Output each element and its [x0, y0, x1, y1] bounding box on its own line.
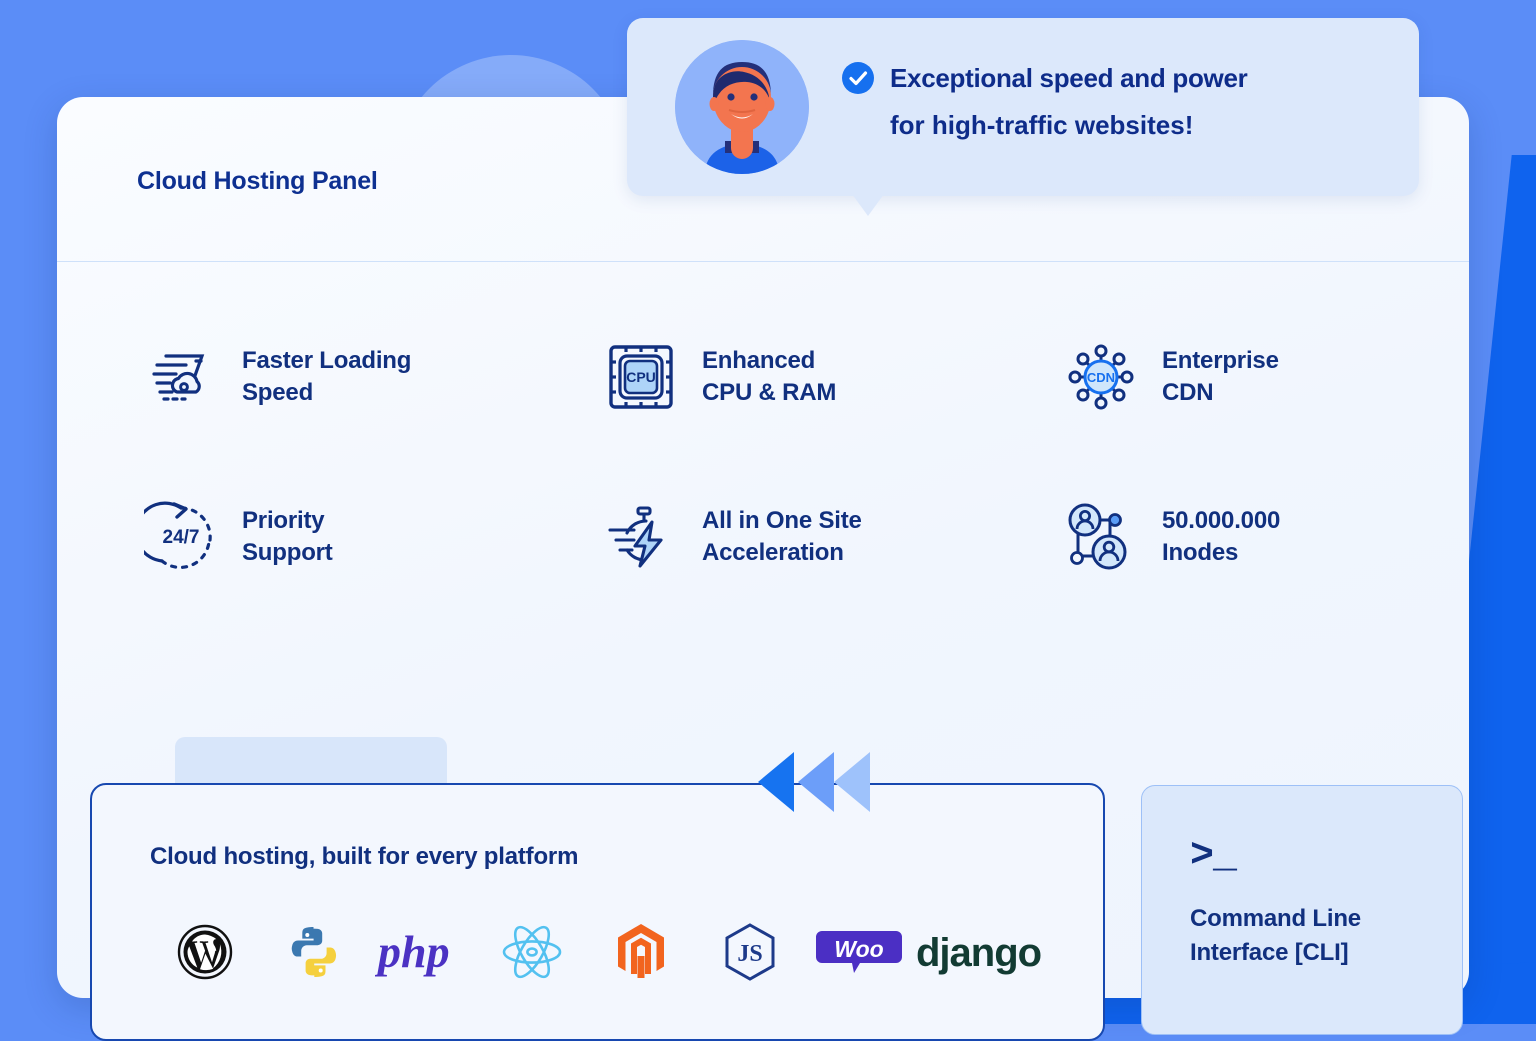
platform-card: Cloud hosting, built for every platform [90, 783, 1105, 1041]
php-logo-text: php [375, 926, 450, 977]
cli-card-label: Command Line Interface [CLI] [1190, 902, 1361, 969]
cdn-network-icon: CDN [1062, 340, 1140, 414]
woocommerce-logo[interactable]: Woo [805, 909, 914, 995]
woocommerce-logo-text: Woo [835, 936, 884, 962]
feature-label: Enhanced CPU & RAM [702, 345, 836, 410]
cloud-hosting-panel: Cloud Hosting Panel [57, 97, 1469, 998]
check-circle-icon [842, 62, 874, 105]
cpu-chip-text: CPU [626, 369, 656, 385]
feature-label: All in One Site Acceleration [702, 505, 862, 570]
speed-tooltip: Exceptional speed and power for high-tra… [627, 18, 1419, 196]
nodejs-logo[interactable]: JS [696, 909, 805, 995]
feature-inodes: 50.000.000 Inodes [1062, 457, 1442, 617]
django-logo[interactable]: django [914, 909, 1070, 995]
feature-label: Faster Loading Speed [242, 345, 411, 410]
platform-logo-row: php [150, 907, 1070, 997]
24-7-clock-icon: 24/7 [142, 500, 220, 574]
feature-site-acceleration: All in One Site Acceleration [602, 457, 1062, 617]
users-network-icon [1062, 500, 1140, 574]
tooltip-body: Exceptional speed and power for high-tra… [842, 58, 1389, 146]
php-logo[interactable]: php [368, 909, 477, 995]
tooltip-text-line-2: for high-traffic websites! [890, 105, 1193, 145]
chevron-left-2 [798, 752, 834, 812]
magento-logo[interactable] [587, 909, 696, 995]
chevron-left-1 [834, 752, 870, 812]
cpu-chip-icon: CPU [602, 340, 680, 414]
react-logo[interactable] [477, 909, 586, 995]
tooltip-line-2: for high-traffic websites! [842, 105, 1389, 145]
page-title: Cloud Hosting Panel [137, 167, 378, 196]
feature-priority-support: 24/7 Priority Support [142, 457, 602, 617]
cli-card[interactable]: >_ Command Line Interface [CLI] [1141, 785, 1463, 1035]
feature-grid: Faster Loading Speed CPU Enha [142, 297, 1442, 617]
feature-enterprise-cdn: CDN Enterprise CDN [1062, 297, 1442, 457]
tooltip-text-line-1: Exceptional speed and power [890, 58, 1247, 98]
cloud-speed-icon [142, 340, 220, 414]
user-avatar-icon [675, 40, 809, 174]
tooltip-tail [852, 194, 884, 216]
feature-label: Priority Support [242, 505, 333, 570]
django-logo-text: django [916, 931, 1041, 975]
feature-faster-loading-speed: Faster Loading Speed [142, 297, 602, 457]
cdn-node-text: CDN [1087, 370, 1115, 385]
tooltip-line-1: Exceptional speed and power [842, 58, 1389, 105]
decorative-slab-lightblue [175, 737, 447, 785]
feature-label: 50.000.000 Inodes [1162, 505, 1280, 570]
stopwatch-bolt-icon [602, 500, 680, 574]
terminal-prompt-icon: >_ [1190, 834, 1236, 879]
wordpress-logo[interactable] [150, 909, 259, 995]
feature-label: Enterprise CDN [1162, 345, 1279, 410]
24-7-badge-text: 24/7 [163, 527, 200, 548]
nodejs-logo-text: JS [738, 941, 763, 967]
platform-card-title: Cloud hosting, built for every platform [150, 843, 578, 871]
python-logo[interactable] [259, 909, 368, 995]
chevron-left-3 [758, 752, 794, 812]
feature-enhanced-cpu-ram: CPU Enhanced CPU & RAM [602, 297, 1062, 457]
triple-chevron-left-icon[interactable] [754, 752, 870, 812]
